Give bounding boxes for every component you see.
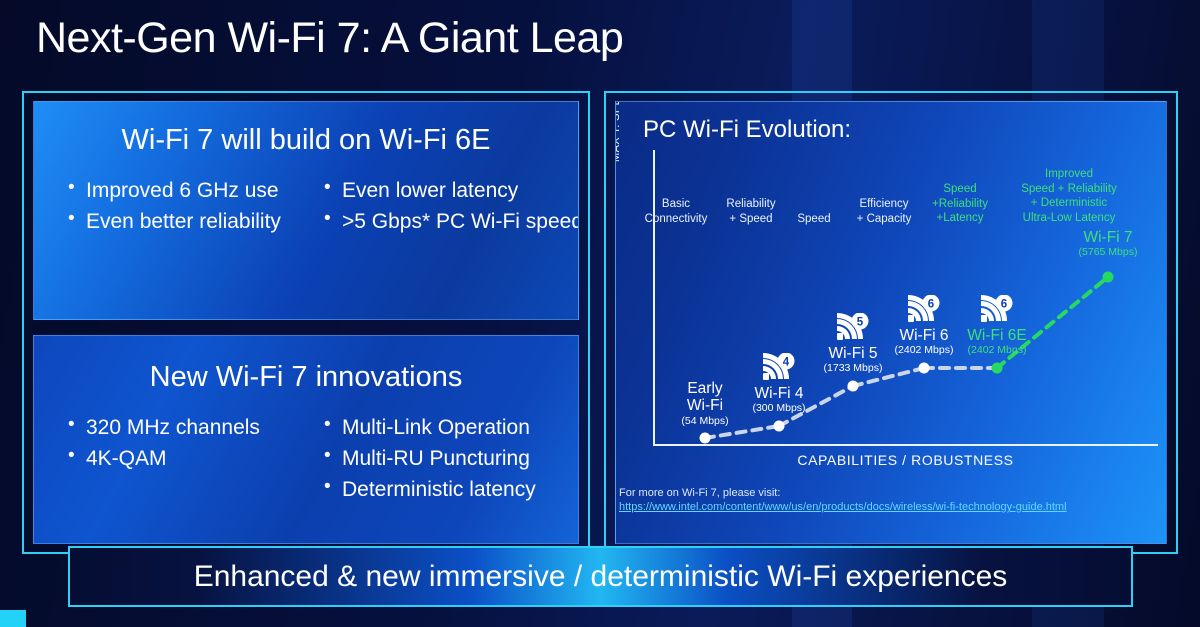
svg-text:4: 4 bbox=[783, 357, 790, 369]
page-title: Next-Gen Wi-Fi 7: A Giant Leap bbox=[36, 14, 623, 63]
panel-top-bullets-left: Improved 6 GHz use Even better reliabili… bbox=[54, 175, 324, 237]
list-item: >5 Gbps* PC Wi-Fi speed bbox=[324, 206, 574, 237]
panel-top-bullets: Improved 6 GHz use Even better reliabili… bbox=[34, 175, 578, 237]
data-label-wi-fi-6: Wi-Fi 6(2402 Mbps) bbox=[895, 327, 954, 358]
data-label-wi-fi-6e: Wi-Fi 6E(2402 Mbps) bbox=[967, 327, 1026, 358]
wifi-4-icon: 4 bbox=[762, 353, 796, 388]
corner-accent-square bbox=[0, 610, 26, 627]
wifi-6-icon: 6 bbox=[980, 295, 1014, 330]
panel-bottom-bullets-left: 320 MHz channels 4K-QAM bbox=[54, 412, 324, 505]
data-label-early-wi-fi: EarlyWi-Fi(54 Mbps) bbox=[681, 380, 728, 428]
list-item: Even better reliability bbox=[68, 206, 324, 237]
data-label-wi-fi-5: Wi-Fi 5(1733 Mbps) bbox=[824, 345, 883, 376]
list-item: Multi-RU Puncturing bbox=[324, 443, 574, 474]
panel-bottom-heading: New Wi-Fi 7 innovations bbox=[34, 361, 578, 394]
panel-wifi7-innovations: New Wi-Fi 7 innovations 320 MHz channels… bbox=[33, 335, 579, 544]
data-point-wi-fi-7 bbox=[1103, 272, 1114, 283]
list-item: Improved 6 GHz use bbox=[68, 175, 324, 206]
svg-text:5: 5 bbox=[857, 317, 864, 329]
svg-text:6: 6 bbox=[1001, 299, 1007, 311]
panel-bottom-bullets: 320 MHz channels 4K-QAM Multi-Link Opera… bbox=[34, 412, 578, 505]
list-item: Even lower latency bbox=[324, 175, 574, 206]
wifi-technology-guide-link[interactable]: https://www.intel.com/content/www/us/en/… bbox=[619, 501, 1067, 513]
panel-bottom-bullets-right: Multi-Link Operation Multi-RU Puncturing… bbox=[324, 412, 574, 505]
banner-text: Enhanced & new immersive / deterministic… bbox=[194, 560, 1008, 594]
svg-text:6: 6 bbox=[928, 299, 934, 311]
data-label-wi-fi-7: Wi-Fi 7(5765 Mbps) bbox=[1079, 229, 1138, 260]
pc-wifi-evolution-chart: PC Wi-Fi Evolution: MAX T. SPEED (2x2 PC… bbox=[615, 101, 1167, 544]
data-label-wi-fi-4: Wi-Fi 4(300 Mbps) bbox=[752, 385, 805, 416]
list-item: 4K-QAM bbox=[68, 443, 324, 474]
chart-trend-line bbox=[616, 102, 1167, 544]
data-point-wi-fi-6 bbox=[919, 363, 930, 374]
list-item: Deterministic latency bbox=[324, 474, 574, 505]
list-item: Multi-Link Operation bbox=[324, 412, 574, 443]
data-point-wi-fi-5 bbox=[848, 381, 859, 392]
panel-top-bullets-right: Even lower latency >5 Gbps* PC Wi-Fi spe… bbox=[324, 175, 574, 237]
data-point-early-wi-fi bbox=[700, 433, 711, 444]
panel-wifi7-builds-on-6e: Wi-Fi 7 will build on Wi-Fi 6E Improved … bbox=[33, 101, 579, 320]
footnote: For more on Wi-Fi 7, please visit: https… bbox=[619, 487, 1067, 513]
list-item: 320 MHz channels bbox=[68, 412, 324, 443]
panel-top-heading: Wi-Fi 7 will build on Wi-Fi 6E bbox=[34, 124, 578, 157]
data-point-wi-fi-6e bbox=[992, 363, 1003, 374]
wifi-5-icon: 5 bbox=[836, 313, 870, 348]
data-point-wi-fi-4 bbox=[774, 421, 785, 432]
bottom-banner: Enhanced & new immersive / deterministic… bbox=[68, 546, 1133, 607]
footnote-text: For more on Wi-Fi 7, please visit: bbox=[619, 487, 1067, 499]
wifi-6-icon: 6 bbox=[907, 295, 941, 330]
